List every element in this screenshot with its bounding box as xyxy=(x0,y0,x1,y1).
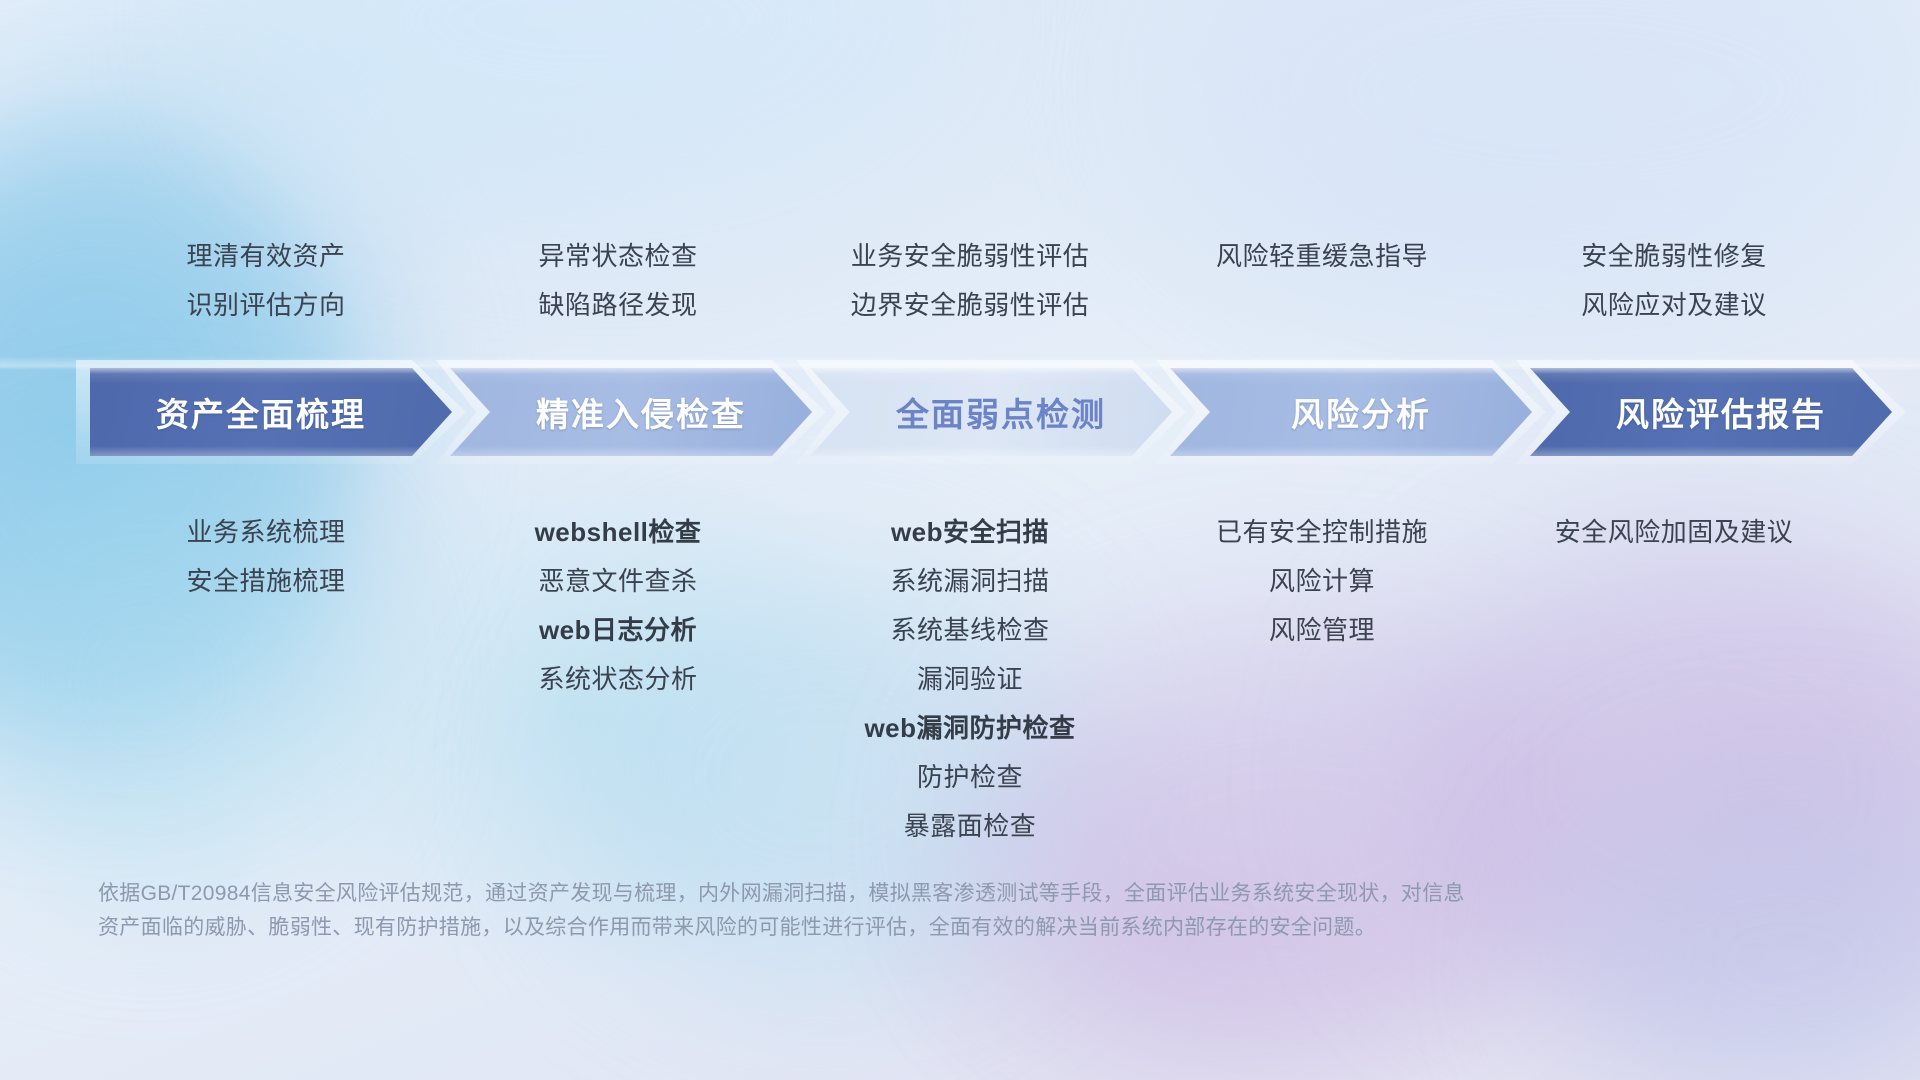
detail-column-5: 安全风险加固及建议 xyxy=(1498,508,1850,851)
detail-item: 漏洞验证 xyxy=(794,655,1146,704)
detail-item: 风险计算 xyxy=(1146,557,1498,606)
detail-column-2: webshell检查恶意文件查杀web日志分析系统状态分析 xyxy=(442,508,794,851)
process-step-2[interactable]: 精准入侵检查 xyxy=(450,368,812,456)
detail-item: 系统基线检查 xyxy=(794,606,1146,655)
footnote-line-2: 资产面临的威胁、脆弱性、现有防护措施，以及综合作用而带来风险的可能性进行评估，全… xyxy=(98,911,1598,945)
process-step-label: 风险分析 xyxy=(1291,388,1431,436)
detail-item: 风险管理 xyxy=(1146,606,1498,655)
process-step-4[interactable]: 风险分析 xyxy=(1170,368,1532,456)
top-caption-item: 风险应对及建议 xyxy=(1498,281,1850,330)
top-caption-item: 理清有效资产 xyxy=(90,232,442,281)
process-step-label: 风险评估报告 xyxy=(1616,388,1826,436)
top-caption-column-3: 业务安全脆弱性评估边界安全脆弱性评估 xyxy=(794,232,1146,330)
top-caption-item: 风险轻重缓急指导 xyxy=(1146,232,1498,281)
top-caption-item: 异常状态检查 xyxy=(442,232,794,281)
top-caption-item: 识别评估方向 xyxy=(90,281,442,330)
process-step-label: 全面弱点检测 xyxy=(896,388,1106,436)
process-step-5[interactable]: 风险评估报告 xyxy=(1530,368,1892,456)
footnote-line-1: 依据GB/T20984信息安全风险评估规范，通过资产发现与梳理，内外网漏洞扫描，… xyxy=(98,877,1598,911)
detail-item: 暴露面检查 xyxy=(794,802,1146,851)
top-captions-row: 理清有效资产识别评估方向异常状态检查缺陷路径发现业务安全脆弱性评估边界安全脆弱性… xyxy=(90,232,1850,330)
process-ribbon: 资产全面梳理精准入侵检查全面弱点检测风险分析风险评估报告 xyxy=(90,368,1860,456)
top-caption-column-1: 理清有效资产识别评估方向 xyxy=(90,232,442,330)
top-caption-item: 安全脆弱性修复 xyxy=(1498,232,1850,281)
detail-item: 恶意文件查杀 xyxy=(442,557,794,606)
process-step-label: 资产全面梳理 xyxy=(156,388,366,436)
detail-item: 安全措施梳理 xyxy=(90,557,442,606)
top-caption-item: 缺陷路径发现 xyxy=(442,281,794,330)
detail-item: 安全风险加固及建议 xyxy=(1498,508,1850,557)
bottom-details-row: 业务系统梳理安全措施梳理webshell检查恶意文件查杀web日志分析系统状态分… xyxy=(90,508,1850,851)
detail-item: webshell检查 xyxy=(442,508,794,557)
detail-item: web安全扫描 xyxy=(794,508,1146,557)
footnote: 依据GB/T20984信息安全风险评估规范，通过资产发现与梳理，内外网漏洞扫描，… xyxy=(98,877,1598,945)
detail-column-4: 已有安全控制措施风险计算风险管理 xyxy=(1146,508,1498,851)
top-caption-column-4: 风险轻重缓急指导 xyxy=(1146,232,1498,330)
detail-item: 系统漏洞扫描 xyxy=(794,557,1146,606)
detail-column-1: 业务系统梳理安全措施梳理 xyxy=(90,508,442,851)
detail-item: 系统状态分析 xyxy=(442,655,794,704)
detail-item: web日志分析 xyxy=(442,606,794,655)
process-step-label: 精准入侵检查 xyxy=(536,388,746,436)
slide-canvas: 理清有效资产识别评估方向异常状态检查缺陷路径发现业务安全脆弱性评估边界安全脆弱性… xyxy=(0,0,1920,1080)
process-step-3[interactable]: 全面弱点检测 xyxy=(810,368,1172,456)
detail-column-3: web安全扫描系统漏洞扫描系统基线检查漏洞验证web漏洞防护检查防护检查暴露面检… xyxy=(794,508,1146,851)
top-caption-item: 业务安全脆弱性评估 xyxy=(794,232,1146,281)
detail-item: 防护检查 xyxy=(794,753,1146,802)
detail-item: web漏洞防护检查 xyxy=(794,704,1146,753)
top-caption-column-2: 异常状态检查缺陷路径发现 xyxy=(442,232,794,330)
detail-item: 已有安全控制措施 xyxy=(1146,508,1498,557)
top-caption-column-5: 安全脆弱性修复风险应对及建议 xyxy=(1498,232,1850,330)
detail-item: 业务系统梳理 xyxy=(90,508,442,557)
process-step-1[interactable]: 资产全面梳理 xyxy=(90,368,452,456)
top-caption-item: 边界安全脆弱性评估 xyxy=(794,281,1146,330)
